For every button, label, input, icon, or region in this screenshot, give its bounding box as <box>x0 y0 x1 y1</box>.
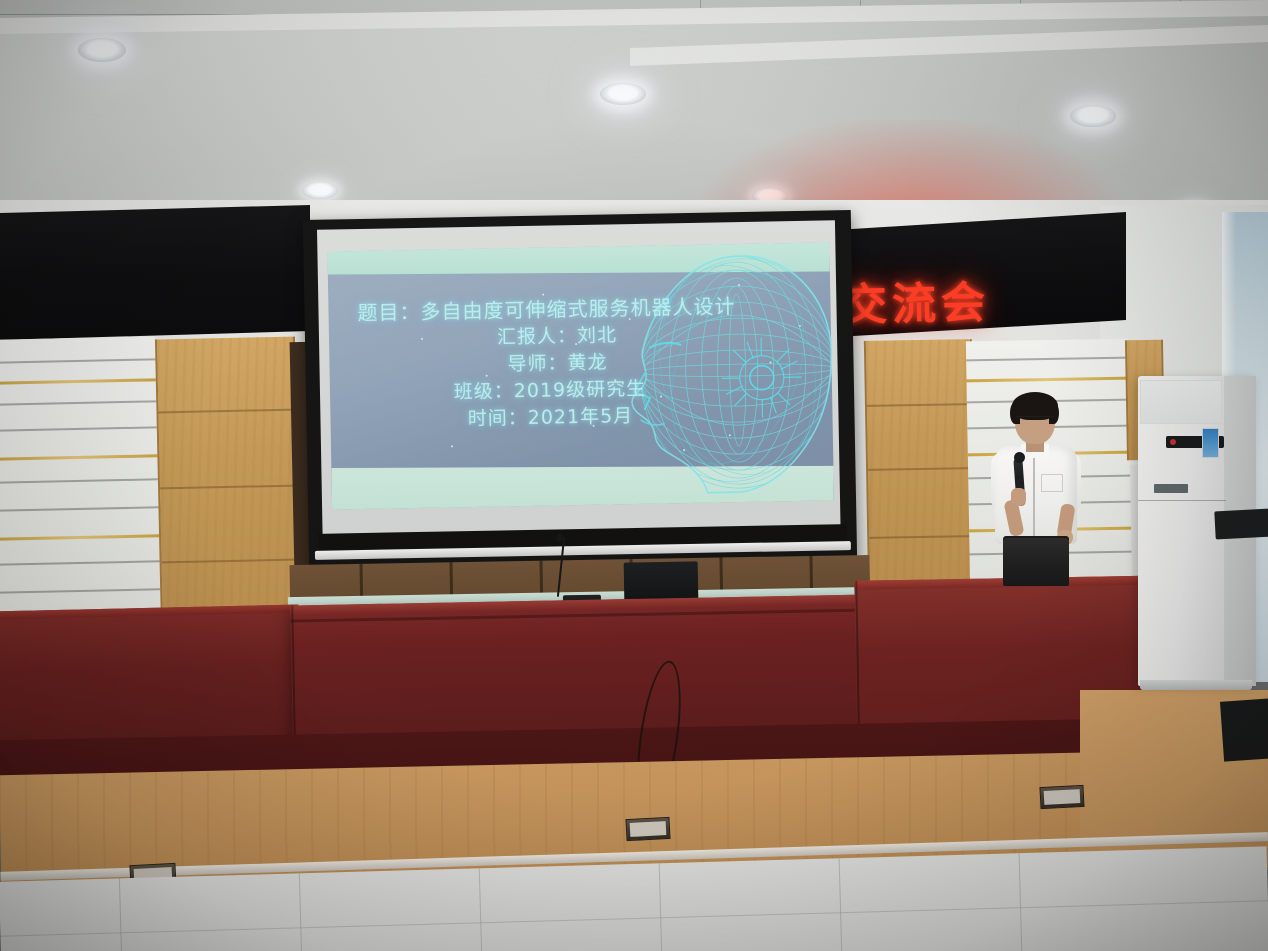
ceiling-downlight <box>302 182 338 199</box>
presentation-slide: 题目：多自由度可伸缩式服务机器人设计 汇报人：刘北 导师：黄龙 班级：2019级… <box>327 242 834 509</box>
conference-hall-photo: 交流会 <box>0 0 1268 951</box>
presenter-hand-left <box>1011 488 1026 506</box>
ceiling-downlight <box>1070 105 1116 127</box>
slide-text-block: 题目：多自由度可伸缩式服务机器人设计 汇报人：刘北 导师：黄龙 班级：2019级… <box>328 292 760 436</box>
presenter <box>985 396 1095 586</box>
wall-slat-panel-left <box>0 336 161 629</box>
screen-surface: 题目：多自由度可伸缩式服务机器人设计 汇报人：刘北 导师：黄龙 班级：2019级… <box>317 220 841 539</box>
wall-wood-panel <box>155 337 301 632</box>
ac-brand-logo <box>1154 484 1188 493</box>
side-chair <box>1220 698 1268 761</box>
led-display-panel-left <box>0 205 310 340</box>
floor-power-socket <box>625 817 670 841</box>
glasses-icon <box>1016 416 1054 425</box>
presenter-pants <box>1003 538 1069 586</box>
wall-wood-panel <box>864 339 976 591</box>
ac-energy-label <box>1202 428 1219 458</box>
projection-screen: 题目：多自由度可伸缩式服务机器人设计 汇报人：刘北 导师：黄龙 班级：2019级… <box>303 210 857 572</box>
ceiling-downlight <box>78 38 126 62</box>
ceiling-downlight <box>600 83 646 105</box>
floor-power-socket <box>1039 785 1084 809</box>
side-table <box>1214 509 1268 540</box>
desk-monitor <box>624 561 699 602</box>
led-sign-text: 交流会 <box>842 267 990 334</box>
